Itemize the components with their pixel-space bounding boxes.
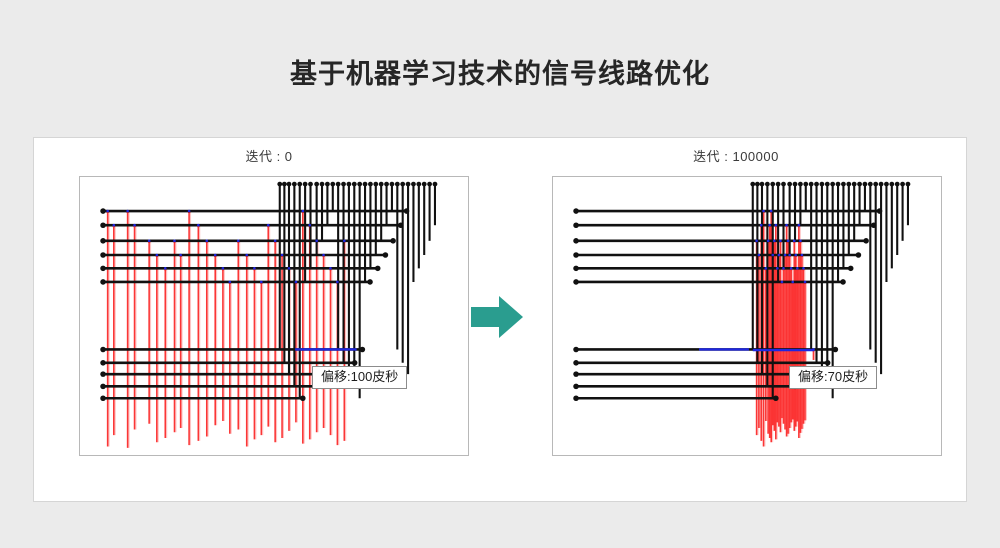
page-title: 基于机器学习技术的信号线路优化	[0, 52, 1000, 91]
chart-title-left: 迭代 : 0	[34, 146, 504, 165]
plot-svg-left	[80, 177, 468, 455]
chart-panel-right: 迭代 : 100000 4002000-200-400-4200-4000-38…	[504, 138, 968, 503]
annotation-offset-left: 偏移:100皮秒	[312, 366, 407, 389]
annotation-offset-right: 偏移:70皮秒	[789, 366, 877, 389]
chart-panel-left: 迭代 : 0 4002000-200-400-4200-4000-3800-36…	[34, 138, 504, 503]
plot-area-left: 4002000-200-400-4200-4000-3800-3600-3400	[79, 176, 469, 456]
screenshot-root: 基于机器学习技术的信号线路优化 迭代 : 0 4002000-200-400-4…	[0, 0, 1000, 548]
arrow-shape	[469, 293, 525, 341]
chart-title-right: 迭代 : 100000	[504, 146, 968, 165]
plot-area-right: 4002000-200-400-4200-4000-3800-3600-3400	[552, 176, 942, 456]
plot-svg-right	[553, 177, 941, 455]
right-arrow-icon	[469, 293, 525, 341]
